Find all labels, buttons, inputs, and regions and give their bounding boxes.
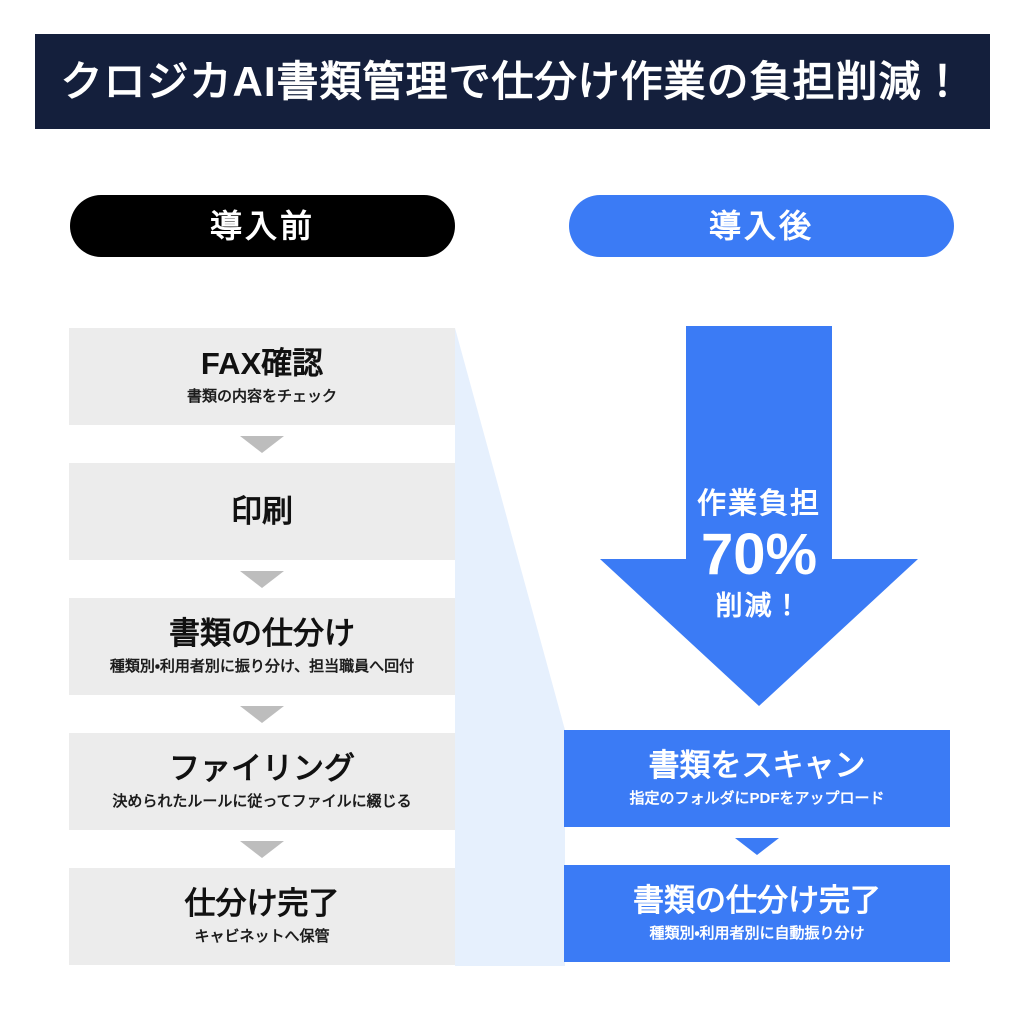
column-header-before-label: 導入前 [210, 210, 315, 242]
wedge-connector-shape [455, 328, 565, 966]
flow-step-connector [69, 425, 455, 463]
triangle-down-icon [240, 841, 284, 858]
flow-step-title: 書類の仕分け完了 [633, 884, 881, 917]
triangle-down-icon [240, 571, 284, 588]
column-header-after-label: 導入後 [709, 210, 814, 242]
flow-step-subtitle: キャビネットへ保管 [194, 929, 329, 946]
flow-step-box: ファイリング 決められたルールに従ってファイルに綴じる [69, 733, 455, 830]
triangle-down-icon [735, 838, 779, 855]
infographic-canvas: クロジカAI書類管理で仕分け作業の負担削減！ 導入前 導入後 FAX確認 書類の… [0, 0, 1024, 1024]
flow-step-title: 書類をスキャン [649, 749, 866, 782]
flow-step-subtitle: 種類別・利用者別に振り分け、担当職員へ回付 [110, 659, 414, 676]
flow-step-box: 仕分け完了 キャビネットへ保管 [69, 868, 455, 965]
flow-step-subtitle: 決められたルールに従ってファイルに綴じる [112, 794, 411, 811]
flow-step-connector [69, 695, 455, 733]
flow-step-title: FAX確認 [201, 347, 323, 380]
flow-step-title: 書類の仕分け [169, 617, 355, 650]
flow-step-box: 書類の仕分け完了 種類別・利用者別に自動振り分け [564, 865, 950, 962]
title-banner: クロジカAI書類管理で仕分け作業の負担削減！ [35, 34, 990, 129]
flow-step-box: 書類の仕分け 種類別・利用者別に振り分け、担当職員へ回付 [69, 598, 455, 695]
flow-step-connector [564, 827, 950, 865]
flow-step-subtitle: 指定のフォルダにPDFをアップロード [629, 791, 884, 808]
flow-step-connector [69, 830, 455, 868]
reduction-callout: 作業負担 70% 削減！ [600, 326, 918, 706]
flow-step-subtitle: 書類の内容をチェック [187, 389, 337, 406]
flow-column-before: FAX確認 書類の内容をチェック 印刷 書類の仕分け 種類別・利用者別に振り分け… [69, 328, 455, 965]
column-header-before: 導入前 [70, 195, 455, 257]
triangle-down-icon [240, 706, 284, 723]
flow-step-box: FAX確認 書類の内容をチェック [69, 328, 455, 425]
flow-step-subtitle: 種類別・利用者別に自動振り分け [649, 926, 864, 943]
flow-step-title: 仕分け完了 [185, 887, 340, 920]
page-title: クロジカAI書類管理で仕分け作業の負担削減！ [60, 61, 964, 103]
flow-step-box: 印刷 [69, 463, 455, 560]
flow-step-connector [69, 560, 455, 598]
flow-step-box: 書類をスキャン 指定のフォルダにPDFをアップロード [564, 730, 950, 827]
flow-step-title: ファイリング [169, 752, 355, 785]
flow-step-title: 印刷 [231, 495, 293, 528]
column-header-after: 導入後 [569, 195, 954, 257]
arrow-down-icon [600, 326, 918, 706]
triangle-down-icon [240, 436, 284, 453]
